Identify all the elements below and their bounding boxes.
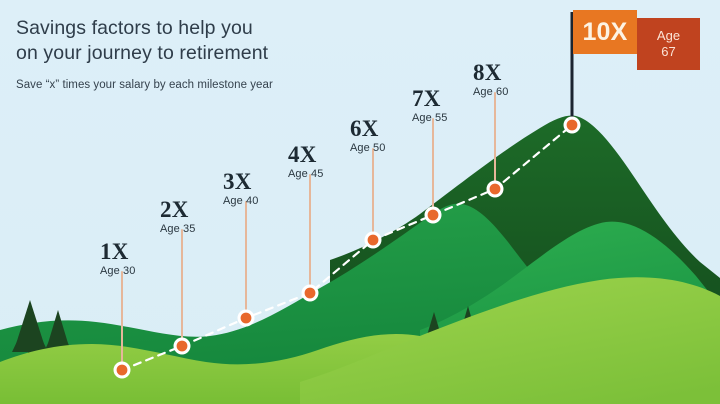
flag-factor-label: 10X xyxy=(573,10,637,54)
milestone-factor: 6X xyxy=(350,117,385,140)
milestone-age: Age 60 xyxy=(473,86,508,99)
flag-age-label: Age 67 xyxy=(637,18,700,70)
milestone-factor: 3X xyxy=(223,170,258,193)
milestone-factor: 7X xyxy=(412,87,447,110)
milestone-label-age-60[interactable]: 8X Age 60 xyxy=(473,61,508,99)
milestone-age: Age 30 xyxy=(100,265,135,278)
header-block: Savings factors to help you on your jour… xyxy=(16,16,273,93)
page-subtitle: Save “x” times your salary by each miles… xyxy=(16,78,273,93)
flag-age-number: 67 xyxy=(661,44,675,60)
summit-flag[interactable]: 10X Age 67 xyxy=(573,10,701,72)
milestone-label-age-55[interactable]: 7X Age 55 xyxy=(412,87,447,125)
milestone-age: Age 45 xyxy=(288,168,323,181)
milestone-factor: 1X xyxy=(100,240,135,263)
milestone-factor: 8X xyxy=(473,61,508,84)
milestone-label-age-40[interactable]: 3X Age 40 xyxy=(223,170,258,208)
milestone-label-age-45[interactable]: 4X Age 45 xyxy=(288,143,323,181)
savings-factors-infographic: Savings factors to help you on your jour… xyxy=(0,0,720,404)
milestone-label-age-30[interactable]: 1X Age 30 xyxy=(100,240,135,278)
milestone-age: Age 55 xyxy=(412,112,447,125)
milestone-label-age-35[interactable]: 2X Age 35 xyxy=(160,198,195,236)
flag-age-word: Age xyxy=(657,28,680,44)
milestone-age: Age 35 xyxy=(160,223,195,236)
milestone-age: Age 50 xyxy=(350,142,385,155)
milestone-label-age-50[interactable]: 6X Age 50 xyxy=(350,117,385,155)
milestone-factor: 4X xyxy=(288,143,323,166)
milestone-factor: 2X xyxy=(160,198,195,221)
page-title: Savings factors to help you on your jour… xyxy=(16,16,273,66)
milestone-age: Age 40 xyxy=(223,195,258,208)
